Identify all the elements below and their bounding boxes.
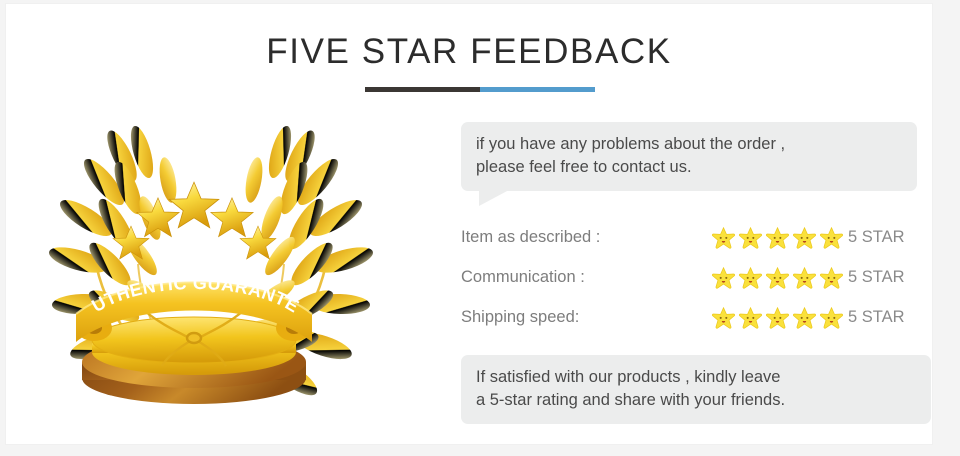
star-icon <box>738 225 763 250</box>
content-card: FIVE STAR FEEDBACK <box>6 4 932 444</box>
ratings-list: Item as described : 5 STAR Communication… <box>461 221 931 334</box>
rating-stars <box>711 265 848 290</box>
rating-request-line-1: If satisfied with our products , kindly … <box>476 366 916 389</box>
star-icon <box>819 265 844 290</box>
star-icon <box>765 265 790 290</box>
emblem-star-4 <box>211 198 253 237</box>
pedestal <box>82 317 306 404</box>
rating-label: Communication : <box>461 268 711 287</box>
authentic-guarantee-emblem: AUTHENTIC GUARANTEE <box>46 114 376 414</box>
rating-label: Shipping speed: <box>461 308 711 327</box>
feedback-banner: FIVE STAR FEEDBACK <box>0 0 960 456</box>
star-icon <box>711 225 736 250</box>
rating-row: Shipping speed: 5 STAR <box>461 301 931 334</box>
rating-row: Item as described : 5 STAR <box>461 221 931 254</box>
star-icon <box>738 305 763 330</box>
rating-label: Item as described : <box>461 228 711 247</box>
page-title: FIVE STAR FEEDBACK <box>6 30 932 74</box>
star-icon <box>711 305 736 330</box>
rating-value: 5 STAR <box>848 268 905 287</box>
rating-request-bubble: If satisfied with our products , kindly … <box>461 355 931 424</box>
star-icon <box>792 225 817 250</box>
title-underline-blue <box>480 87 595 92</box>
star-icon <box>819 305 844 330</box>
bubble-tail <box>479 190 509 206</box>
contact-message-line-2: please feel free to contact us. <box>476 156 902 179</box>
page-title-block: FIVE STAR FEEDBACK <box>6 30 932 74</box>
star-icon <box>819 225 844 250</box>
spacer <box>461 341 921 355</box>
feedback-column: if you have any problems about the order… <box>461 122 921 424</box>
rating-stars <box>711 305 848 330</box>
title-underline-dark <box>365 87 480 92</box>
star-icon <box>792 305 817 330</box>
star-icon <box>738 265 763 290</box>
rating-row: Communication : 5 STAR <box>461 261 931 294</box>
star-icon <box>711 265 736 290</box>
rating-stars <box>711 225 848 250</box>
star-icon <box>792 265 817 290</box>
title-underline <box>365 87 595 92</box>
rating-value: 5 STAR <box>848 308 905 327</box>
emblem-star-3 <box>169 182 219 228</box>
contact-message-bubble: if you have any problems about the order… <box>461 122 917 191</box>
star-icon <box>765 225 790 250</box>
star-icon <box>765 305 790 330</box>
contact-message-line-1: if you have any problems about the order… <box>476 133 902 156</box>
rating-value: 5 STAR <box>848 228 905 247</box>
rating-request-line-2: a 5-star rating and share with your frie… <box>476 389 916 412</box>
